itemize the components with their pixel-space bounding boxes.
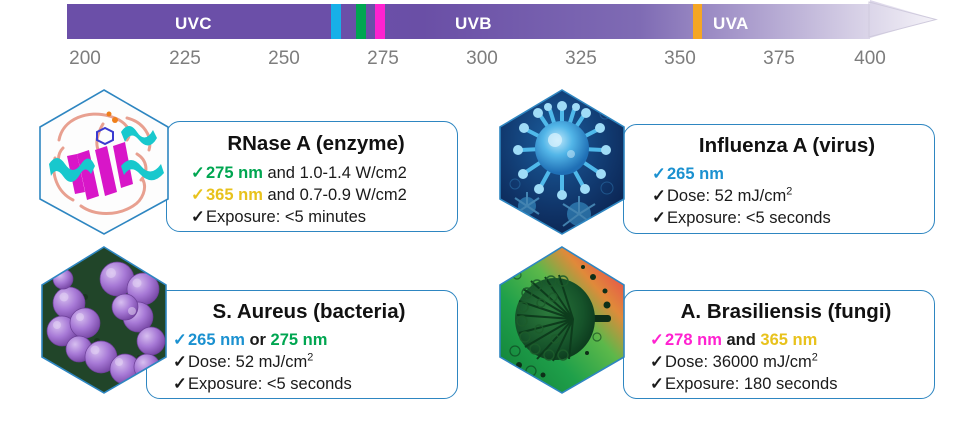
- check-icon: ✓: [650, 352, 665, 374]
- influenza-virus-particle-image: [497, 88, 627, 236]
- bullet-text: or: [245, 331, 271, 349]
- card-bullets-rnase-a: ✓275 nm and 1.0-1.4 W/cm2 ✓365 nm and 0.…: [191, 163, 441, 228]
- marker-278-bar: [375, 4, 385, 39]
- bullet-text: Exposure: <5 seconds: [188, 375, 352, 393]
- card-bullets-influenza-a: ✓265 nm ✓Dose: 52 mJ/cm2 ✓Exposure: <5 s…: [652, 164, 922, 229]
- tick-label-325: 325: [565, 48, 597, 70]
- check-icon: ✓: [191, 163, 206, 185]
- tick-label-375: 375: [763, 48, 795, 70]
- bullet-highlight: 278 nm: [665, 331, 722, 349]
- check-icon: ✓: [173, 352, 188, 374]
- bullet-text: and: [722, 331, 761, 349]
- tick-label-200: 200: [69, 48, 101, 70]
- rnase-a-protein-structure-image: [37, 88, 171, 236]
- bullet-item: ✓Dose: 52 mJ/cm2: [652, 186, 922, 208]
- bullet-item: ✓Exposure: <5 seconds: [652, 208, 922, 230]
- bullet-highlight: 365 nm: [206, 186, 263, 204]
- bullet-text: Exposure: 180 seconds: [665, 375, 837, 393]
- check-icon: ✓: [652, 208, 667, 230]
- card-title-a-brasiliensis: A. Brasiliensis (fungi): [650, 300, 922, 324]
- card-s-aureus[interactable]: S. Aureus (bacteria) ✓265 nm or 275 nm ✓…: [146, 290, 458, 399]
- bullet-text: Dose: 52 mJ/cm2: [188, 353, 313, 371]
- hex-image-s-aureus: [39, 245, 169, 395]
- tick-label-250: 250: [268, 48, 300, 70]
- bullet-item: ✓265 nm: [652, 164, 922, 186]
- check-icon: ✓: [173, 374, 188, 396]
- check-icon: ✓: [191, 185, 206, 207]
- staphylococcus-aureus-micrograph-image: [39, 245, 169, 395]
- bullet-highlight: 275 nm: [206, 164, 263, 182]
- bullet-item: ✓Exposure: <5 seconds: [173, 374, 445, 396]
- card-rnase-a[interactable]: RNase A (enzyme) ✓275 nm and 1.0-1.4 W/c…: [166, 121, 458, 232]
- bullet-item: ✓Exposure: <5 minutes: [191, 207, 441, 229]
- bullet-item: ✓278 nm and 365 nm: [650, 330, 922, 352]
- check-icon: ✓: [652, 164, 667, 186]
- card-influenza-a[interactable]: Influenza A (virus) ✓265 nm ✓Dose: 52 mJ…: [623, 124, 935, 234]
- band-label-uvb: UVB: [455, 14, 492, 34]
- card-title-s-aureus: S. Aureus (bacteria): [173, 300, 445, 324]
- check-icon: ✓: [652, 186, 667, 208]
- tick-label-300: 300: [466, 48, 498, 70]
- bullet-text: Exposure: <5 minutes: [206, 208, 366, 226]
- check-icon: ✓: [173, 330, 188, 352]
- bullet-item: ✓275 nm and 1.0-1.4 W/cm2: [191, 163, 441, 185]
- card-a-brasiliensis[interactable]: A. Brasiliensis (fungi) ✓278 nm and 365 …: [623, 290, 935, 399]
- hex-image-influenza-a: [497, 88, 627, 236]
- uv-spectrum-infographic: UVC UVB UVA 200 225 250 275 300 325 350 …: [0, 0, 960, 426]
- bullet-text: and 1.0-1.4 W/cm2: [263, 164, 407, 182]
- bullet-highlight: 265 nm: [667, 165, 724, 183]
- check-icon: ✓: [650, 330, 665, 352]
- check-icon: ✓: [650, 374, 665, 396]
- bullet-text: Dose: 36000 mJ/cm2: [665, 353, 818, 371]
- aspergillus-brasiliensis-micrograph-image: [497, 245, 627, 395]
- band-label-uvc: UVC: [175, 14, 212, 34]
- tick-label-400: 400: [854, 48, 886, 70]
- bullet-text: and 0.7-0.9 W/cm2: [263, 186, 407, 204]
- bullet-item: ✓Dose: 52 mJ/cm2: [173, 352, 445, 374]
- uv-spectrum-bar: UVC UVB UVA 200 225 250 275 300 325 350 …: [0, 0, 960, 78]
- bullet-text: Exposure: <5 seconds: [667, 209, 831, 227]
- card-bullets-s-aureus: ✓265 nm or 275 nm ✓Dose: 52 mJ/cm2 ✓Expo…: [173, 330, 445, 395]
- tick-label-275: 275: [367, 48, 399, 70]
- hex-image-a-brasiliensis: [497, 245, 627, 395]
- band-label-uva: UVA: [713, 14, 749, 34]
- bullet-highlight: 275 nm: [271, 331, 328, 349]
- hex-image-rnase-a: [37, 88, 171, 236]
- bullet-item: ✓Dose: 36000 mJ/cm2: [650, 352, 922, 374]
- marker-265-bar: [331, 4, 341, 39]
- bullet-item: ✓365 nm and 0.7-0.9 W/cm2: [191, 185, 441, 207]
- marker-365-bar: [693, 4, 702, 39]
- marker-275-bar: [356, 4, 366, 39]
- bullet-item: ✓265 nm or 275 nm: [173, 330, 445, 352]
- tick-label-225: 225: [169, 48, 201, 70]
- bullet-highlight: 265 nm: [188, 331, 245, 349]
- card-title-rnase-a: RNase A (enzyme): [191, 132, 441, 156]
- tick-label-350: 350: [664, 48, 696, 70]
- bullet-highlight: 365 nm: [760, 331, 817, 349]
- card-bullets-a-brasiliensis: ✓278 nm and 365 nm ✓Dose: 36000 mJ/cm2 ✓…: [650, 330, 922, 395]
- check-icon: ✓: [191, 207, 206, 229]
- card-title-influenza-a: Influenza A (virus): [652, 134, 922, 158]
- bullet-item: ✓Exposure: 180 seconds: [650, 374, 922, 396]
- bullet-text: Dose: 52 mJ/cm2: [667, 187, 792, 205]
